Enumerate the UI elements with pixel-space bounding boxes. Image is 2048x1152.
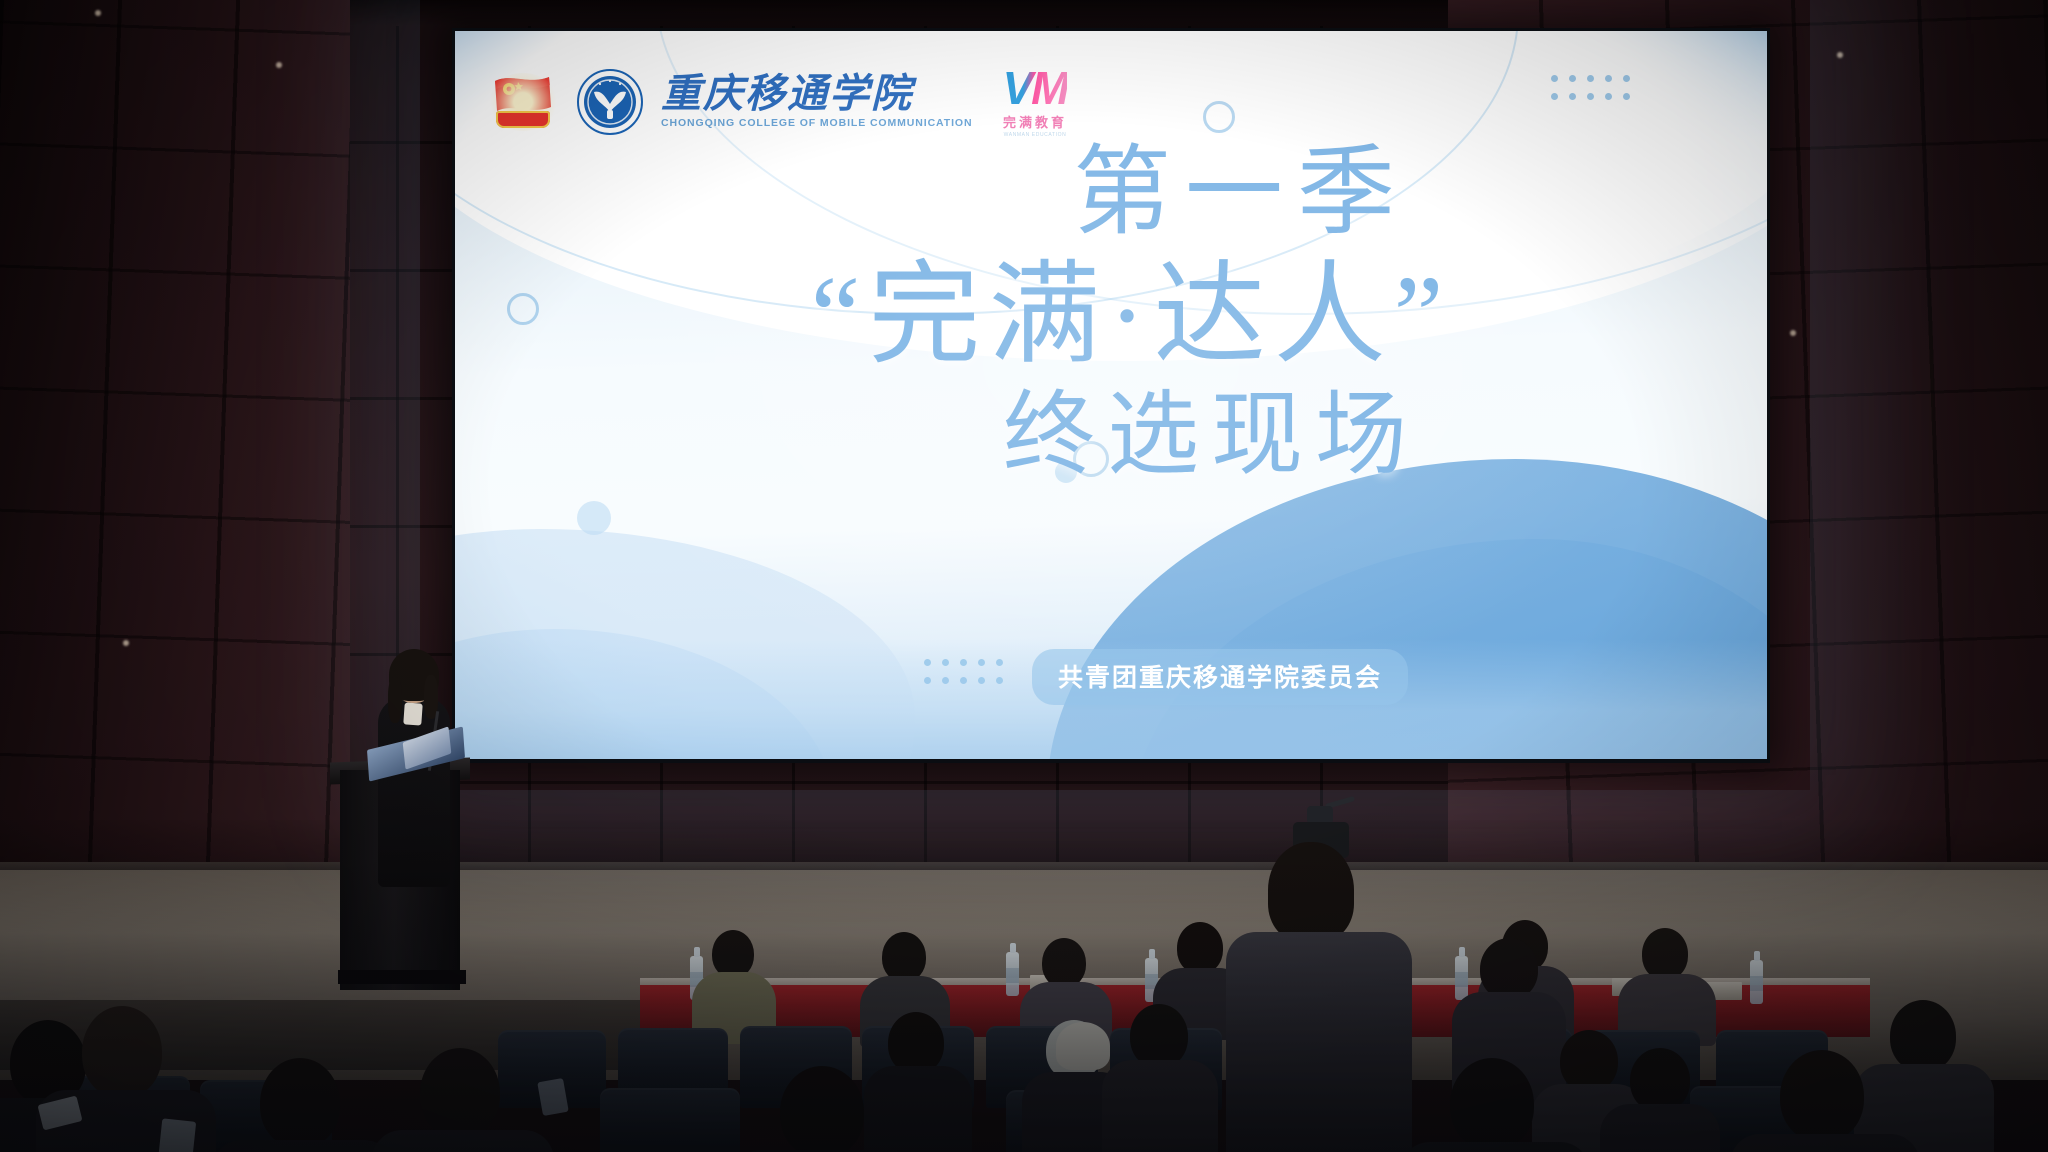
slide-title-line-1: 第一季 [455, 136, 1767, 252]
slide-footer: 共青团重庆移通学院委员会 [455, 649, 1767, 705]
wall-light-speck [276, 62, 282, 68]
university-name-cn: 重庆移通学院 [661, 74, 972, 115]
audience-phone-screen [158, 1118, 196, 1152]
water-bottle [1455, 956, 1468, 1000]
water-bottle [1006, 952, 1019, 996]
youth-league-flag-icon [485, 71, 563, 133]
organizer-badge: 共青团重庆移通学院委员会 [1032, 649, 1408, 705]
projection-screen: 重庆移通学院 CHONGQING COLLEGE OF MOBILE COMMU… [455, 31, 1767, 759]
wall-light-speck [123, 640, 129, 646]
vm-logo-block: VM 完满教育 WANMAN EDUCATION [1002, 65, 1067, 138]
vm-logo-mark: VM [1002, 65, 1067, 111]
audience-phone-screen [537, 1078, 569, 1116]
university-name-block: 重庆移通学院 CHONGQING COLLEGE OF MOBILE COMMU… [661, 74, 972, 130]
podium-base [338, 970, 466, 984]
university-name-en: CHONGQING COLLEGE OF MOBILE COMMUNICATIO… [661, 117, 972, 129]
circle-outline-icon [1203, 101, 1235, 133]
circle-dot-icon [577, 501, 611, 535]
wall-light-speck [1790, 330, 1796, 336]
dot-grid-icon [924, 659, 1014, 695]
wall-light-speck [1837, 52, 1843, 58]
water-bottle [1750, 960, 1763, 1004]
slide-title: 第一季 “完满·达人” 终选现场 [455, 136, 1767, 491]
vm-logo-subtitle: 完满教育 [1003, 112, 1067, 131]
slide-header-logos: 重庆移通学院 CHONGQING COLLEGE OF MOBILE COMMU… [485, 65, 1067, 138]
slide-title-line-2: “完满·达人” [455, 252, 1767, 381]
dot-grid-icon [1551, 75, 1641, 111]
auditorium-scene: 重庆移通学院 CHONGQING COLLEGE OF MOBILE COMMU… [0, 0, 2048, 1152]
slide-title-line-3: 终选现场 [455, 380, 1767, 490]
wall-light-speck [95, 10, 101, 16]
audience-seat [600, 1088, 740, 1152]
university-emblem-icon [577, 69, 643, 135]
